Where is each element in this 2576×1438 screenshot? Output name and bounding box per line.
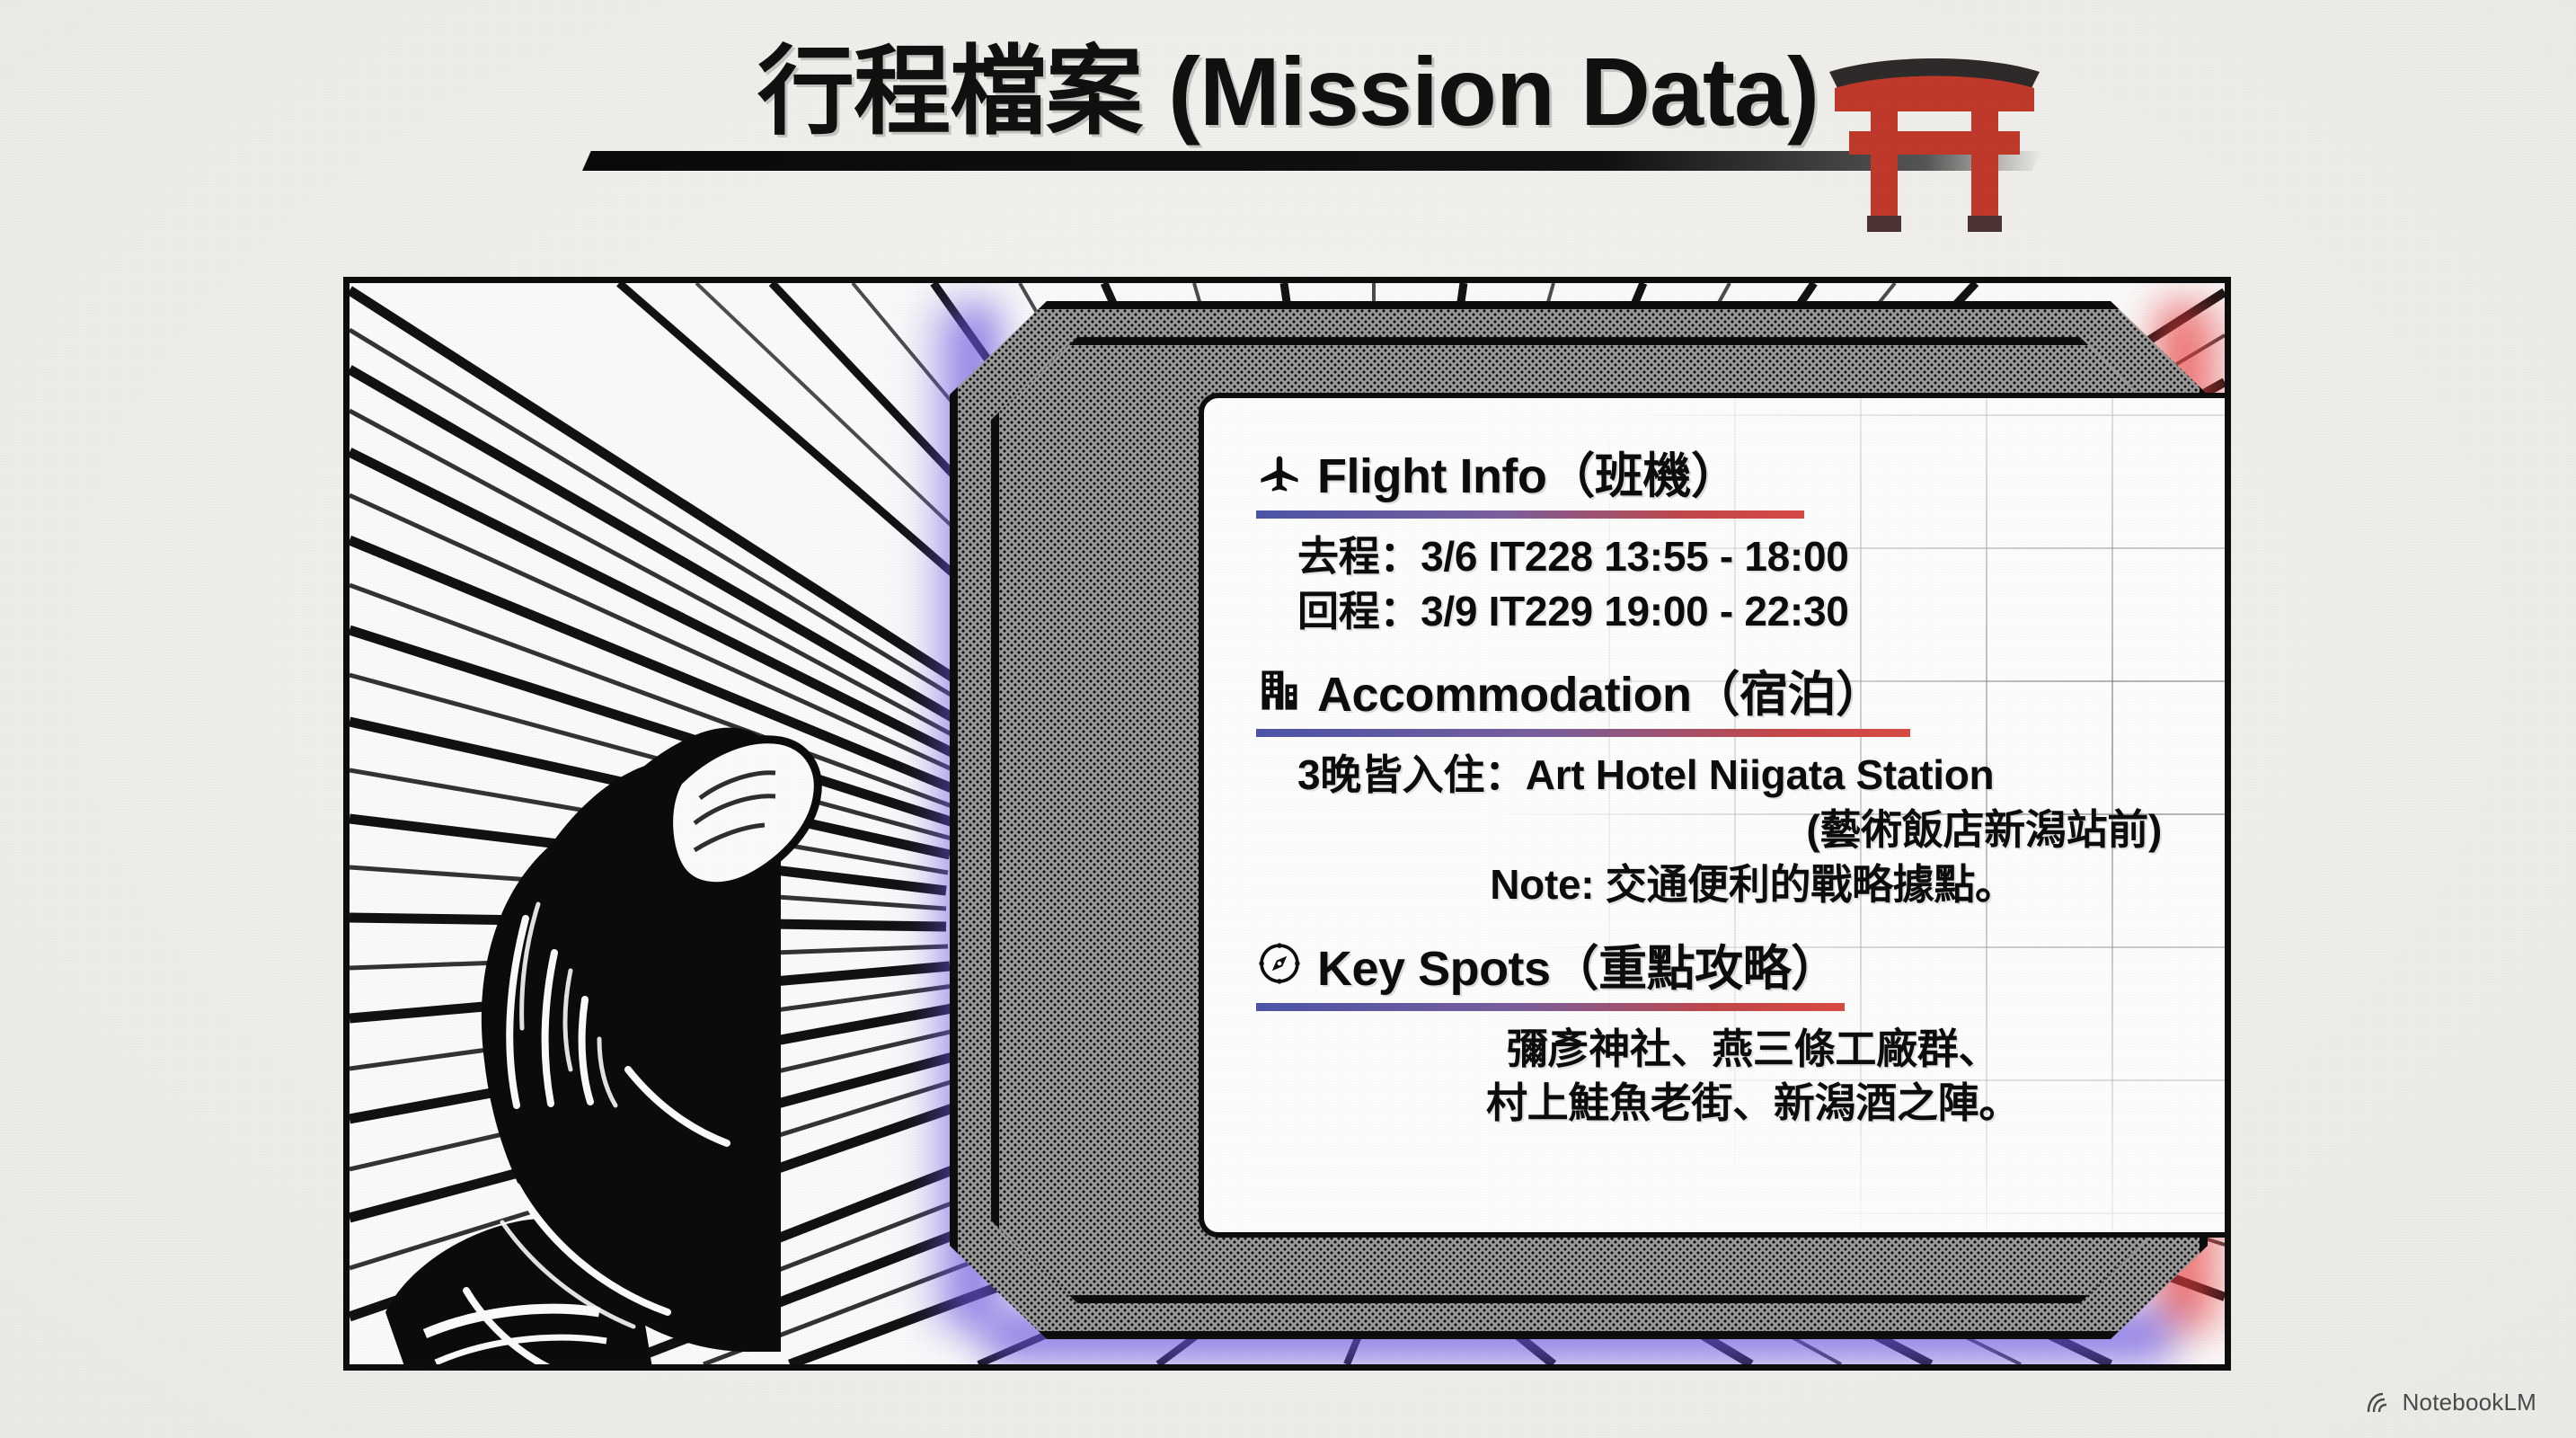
section-title: Flight Info（班機） xyxy=(1317,436,1739,507)
hotel-name-zh: (藝術飯店新潟站前) xyxy=(1297,803,2209,857)
airplane-icon xyxy=(1256,448,1303,495)
section-rule xyxy=(1256,510,1804,519)
gloved-hand xyxy=(359,683,934,1371)
section-key-spots: Key Spots（重點攻略） 彌彥神社、燕三條工廠群、 村上鮭魚老街、新潟酒之… xyxy=(1249,928,2209,1131)
page-title-block: 行程檔案 (Mission Data) xyxy=(0,36,2576,147)
torii-gate-icon xyxy=(1822,49,2047,233)
page-title: 行程檔案 (Mission Data) xyxy=(757,36,1819,147)
section-rule xyxy=(1256,1003,1845,1011)
watermark-label: NotebookLM xyxy=(2403,1389,2536,1416)
section-title: Key Spots（重點攻略） xyxy=(1317,928,1839,999)
slide-canvas: 行程檔案 (Mission Data) xyxy=(0,0,2576,1438)
section-accommodation: Accommodation（宿泊） 3晚皆入住：Art Hotel Niigat… xyxy=(1249,654,2209,911)
building-icon xyxy=(1256,667,1303,714)
section-header: Flight Info（班機） xyxy=(1249,436,2209,507)
section-body: 3晚皆入住：Art Hotel Niigata Station (藝術飯店新潟站… xyxy=(1249,748,2209,911)
comic-panel: Flight Info（班機） 去程：3/6 IT228 13:55 - 18:… xyxy=(343,277,2231,1371)
section-body: 去程：3/6 IT228 13:55 - 18:00 回程：3/9 IT229 … xyxy=(1249,529,2209,638)
section-header: Accommodation（宿泊） xyxy=(1249,654,2209,725)
section-rule xyxy=(1256,729,1910,737)
hotel-name: 3晚皆入住：Art Hotel Niigata Station xyxy=(1297,748,2209,803)
key-spots-line-1: 彌彥神社、燕三條工廠群、 xyxy=(1297,1022,2209,1077)
section-flight-info: Flight Info（班機） 去程：3/6 IT228 13:55 - 18:… xyxy=(1249,436,2209,638)
flight-return: 回程：3/9 IT229 19:00 - 22:30 xyxy=(1297,584,2209,639)
key-spots-line-2: 村上鮭魚老街、新潟酒之陣。 xyxy=(1297,1076,2209,1131)
section-title: Accommodation（宿泊） xyxy=(1317,654,1884,725)
hotel-note: Note: 交通便利的戰略據點。 xyxy=(1297,857,2209,912)
device-screen: Flight Info（班機） 去程：3/6 IT228 13:55 - 18:… xyxy=(1199,393,2231,1238)
compass-icon xyxy=(1256,940,1303,987)
flight-outbound: 去程：3/6 IT228 13:55 - 18:00 xyxy=(1297,529,2209,584)
tablet-device: Flight Info（班機） 去程：3/6 IT228 13:55 - 18:… xyxy=(950,301,2208,1339)
notebooklm-logo-icon xyxy=(2367,1391,2394,1415)
section-body: 彌彥神社、燕三條工廠群、 村上鮭魚老街、新潟酒之陣。 xyxy=(1249,1022,2209,1131)
notebooklm-watermark: NotebookLM xyxy=(2367,1389,2536,1416)
section-header: Key Spots（重點攻略） xyxy=(1249,928,2209,999)
